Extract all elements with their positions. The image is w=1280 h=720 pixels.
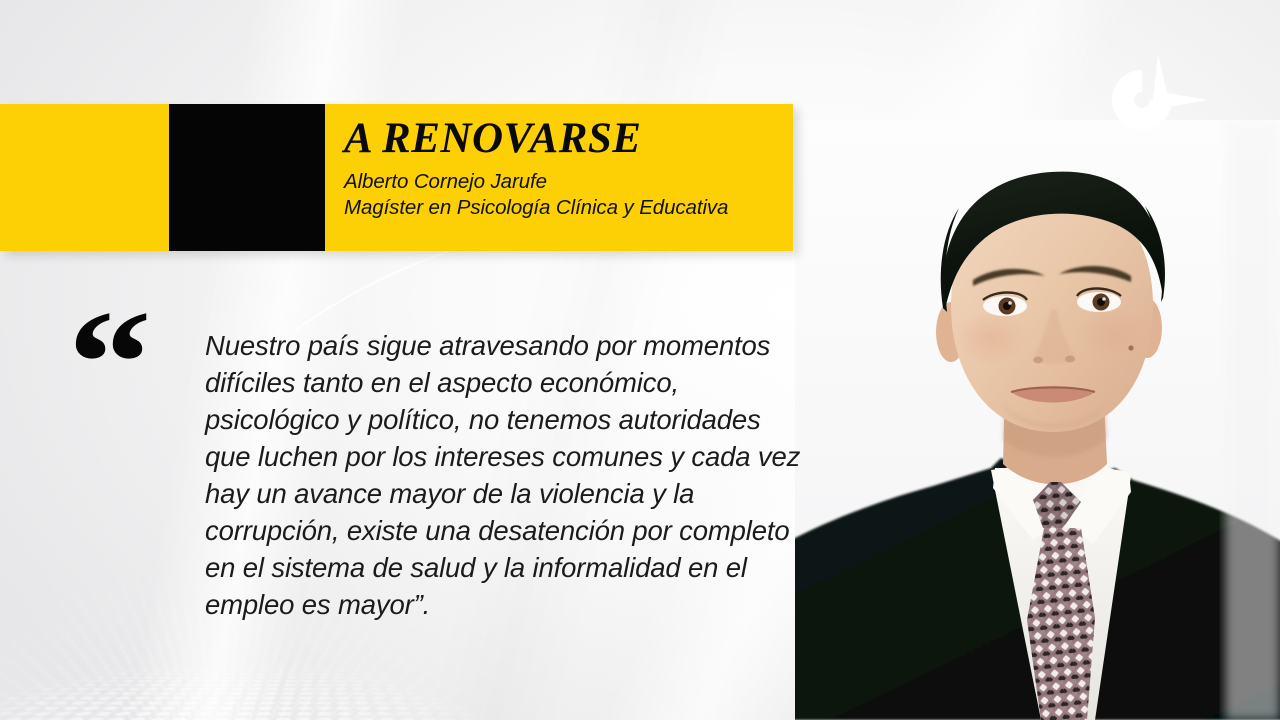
circular-arrow-star-logo bbox=[1096, 48, 1214, 152]
portrait-illustration bbox=[795, 120, 1280, 720]
mole bbox=[1128, 345, 1133, 350]
logo-star bbox=[1152, 54, 1208, 110]
page-title: A RENOVARSE bbox=[344, 104, 793, 160]
author-block: Alberto Cornejo Jarufe Magíster en Psico… bbox=[344, 169, 793, 221]
banner-black-block bbox=[169, 104, 325, 251]
open-quote-icon: “ bbox=[68, 288, 148, 438]
quote-text: Nuestro país sigue atravesando por momen… bbox=[205, 327, 805, 623]
author-title: Magíster en Psicología Clínica y Educati… bbox=[344, 195, 793, 221]
author-name: Alberto Cornejo Jarufe bbox=[344, 169, 793, 195]
cheek-right bbox=[1077, 306, 1149, 362]
poster-canvas: A RENOVARSE Alberto Cornejo Jarufe Magís… bbox=[0, 0, 1280, 720]
cheek-left bbox=[955, 310, 1027, 366]
title-banner: A RENOVARSE Alberto Cornejo Jarufe Magís… bbox=[0, 104, 793, 251]
portrait-photo bbox=[795, 120, 1280, 720]
banner-text-group: A RENOVARSE Alberto Cornejo Jarufe Magís… bbox=[344, 104, 793, 251]
